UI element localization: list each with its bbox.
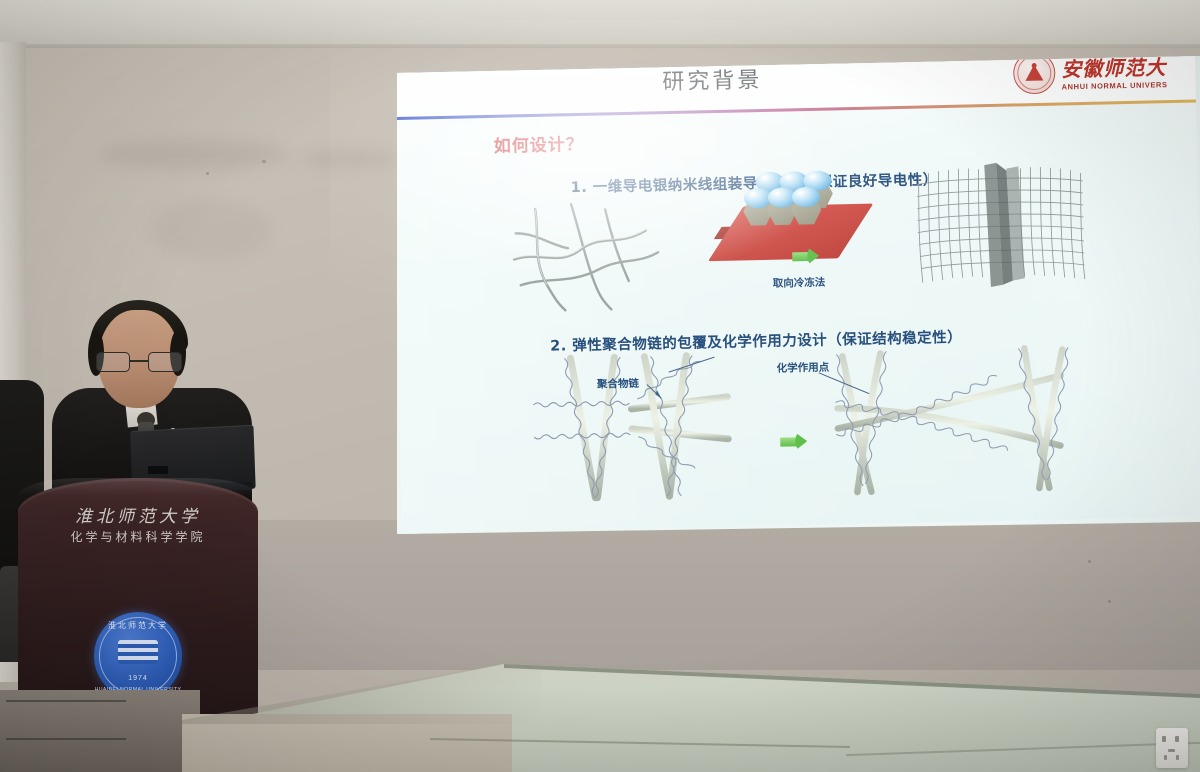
seal-year: 1974: [94, 675, 182, 682]
wall-speck: [1088, 560, 1091, 563]
wall-speck: [206, 172, 209, 175]
lectern-university-name: 淮北师范大学: [18, 502, 258, 527]
lectern-university-seal-icon: 淮北师范大学 1974 HUAIBEI NORMAL UNIVERSITY: [94, 612, 182, 700]
laptop-port: [148, 466, 168, 474]
wall-smudge: [300, 150, 400, 168]
wall-smudge: [150, 200, 270, 260]
wall-speck: [1108, 600, 1111, 603]
label-chemical-interaction-point: 化学作用点: [777, 360, 830, 376]
slide-subheading: 如何设计？: [493, 130, 584, 157]
floor-rail: [6, 700, 126, 740]
wall-power-outlet[interactable]: [1156, 728, 1188, 768]
wall-smudge: [100, 140, 290, 170]
deformed-network-figure: [828, 341, 1071, 496]
honeycomb-template-figure: [712, 158, 875, 281]
seal-name-cn: 淮北师范大学: [94, 620, 182, 631]
wall-speck: [262, 160, 266, 163]
presentation-slide: 研究背景 安徽师范大 ANHUI NORMAL UNIVERS 如何设计？ 1.…: [392, 39, 1200, 534]
lectern-college-name: 化学与材料科学学院: [18, 528, 258, 545]
label-directional-freezing: 取向冷冻法: [773, 275, 826, 291]
projection-screen: 研究背景 安徽师范大 ANHUI NORMAL UNIVERS 如何设计？ 1.…: [397, 56, 1200, 534]
random-nanowire-network-figure: [505, 190, 668, 313]
logo-name-en: ANHUI NORMAL UNIVERS: [1061, 80, 1167, 91]
ceiling: [0, 0, 1200, 46]
eyeglasses: [94, 352, 186, 372]
polymer-wrapped-network-figure: [518, 349, 741, 504]
aligned-lamellar-network-figure: [914, 159, 1087, 293]
presentation-room-photo: 研究背景 安徽师范大 ANHUI NORMAL UNIVERS 如何设计？ 1.…: [0, 0, 1200, 772]
label-polymer-chain: 聚合物链: [597, 376, 639, 392]
